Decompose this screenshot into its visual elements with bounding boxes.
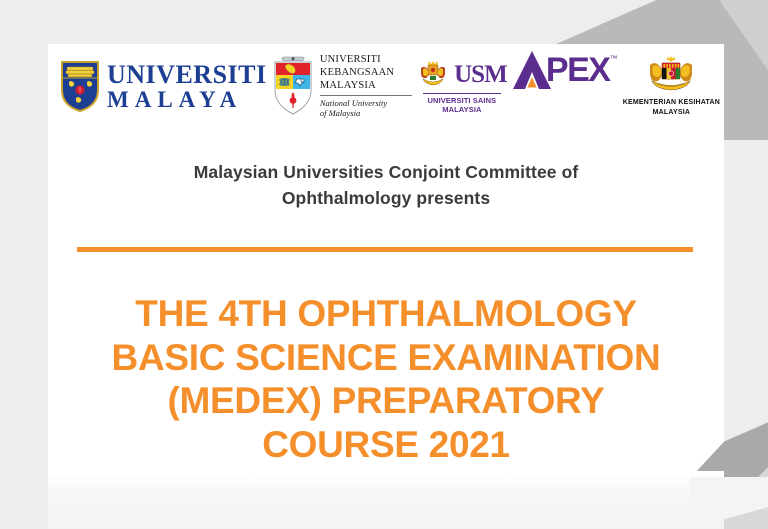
usm-caption: UNIVERSITI SAINS MALAYSIA (423, 93, 501, 114)
orange-divider-rule (77, 247, 693, 252)
apex-triangle-mark-icon (512, 50, 552, 90)
um-shield-crest-icon (60, 60, 100, 112)
usm-letters: USM (454, 62, 507, 87)
um-wordmark-line2: MALAYA (107, 88, 267, 111)
malaysia-coat-of-arms-icon (644, 55, 698, 95)
um-wordmark-line1: UNIVERSITI (107, 62, 267, 88)
ukm-divider-rule (320, 95, 412, 96)
presenter-line2: Ophthalmology presents (75, 186, 697, 212)
poster-canvas: UNIVERSITI MALAYA (0, 0, 768, 529)
title-line1: THE 4TH OPHTHALMOLOGY (50, 292, 722, 336)
apex-wordmark: PEX (546, 53, 610, 87)
title-line4: COURSE 2021 (50, 423, 722, 467)
um-wordmark: UNIVERSITI MALAYA (107, 62, 267, 111)
logo-universiti-sains-malaysia: USM UNIVERSITI SAINS MALAYSIA (417, 50, 507, 122)
usm-coat-of-arms-icon (417, 59, 449, 91)
ukm-name-line3: MALAYSIA (320, 80, 412, 93)
logo-universiti-kebangsaan-malaysia: UNIVERSITI KEBANGSAAN MALAYSIA National … (272, 50, 412, 122)
logo-apex: PEX ™ (512, 50, 618, 122)
kkm-caption: KEMENTERIAN KESIHATAN MALAYSIA (623, 98, 720, 117)
apex-trademark-symbol: ™ (609, 54, 617, 63)
logo-kementerian-kesihatan-malaysia: KEMENTERIAN KESIHATAN MALAYSIA (623, 50, 720, 122)
presenter-line1: Malaysian Universities Conjoint Committe… (75, 160, 697, 186)
ukm-subtitle-line2: of Malaysia (320, 108, 412, 118)
ukm-wordmark: UNIVERSITI KEBANGSAAN MALAYSIA National … (320, 54, 412, 118)
kkm-caption-line2: MALAYSIA (623, 108, 720, 117)
ukm-subtitle-line1: National University (320, 98, 412, 108)
page-title: THE 4TH OPHTHALMOLOGY BASIC SCIENCE EXAM… (50, 292, 722, 467)
logo-row: UNIVERSITI MALAYA (60, 50, 720, 122)
presenter-heading: Malaysian Universities Conjoint Committe… (75, 160, 697, 212)
ukm-name-line1: UNIVERSITI (320, 54, 412, 67)
logo-universiti-malaya: UNIVERSITI MALAYA (60, 50, 267, 122)
kkm-caption-line1: KEMENTERIAN KESIHATAN (623, 98, 720, 107)
ukm-name-line2: KEBANGSAAN (320, 67, 412, 80)
usm-top-row: USM (417, 59, 507, 91)
title-line2: BASIC SCIENCE EXAMINATION (50, 336, 722, 380)
title-line3: (MEDEX) PREPARATORY (50, 379, 722, 423)
apex-wrap: PEX ™ (512, 50, 618, 90)
ukm-shield-crest-icon (272, 56, 314, 116)
